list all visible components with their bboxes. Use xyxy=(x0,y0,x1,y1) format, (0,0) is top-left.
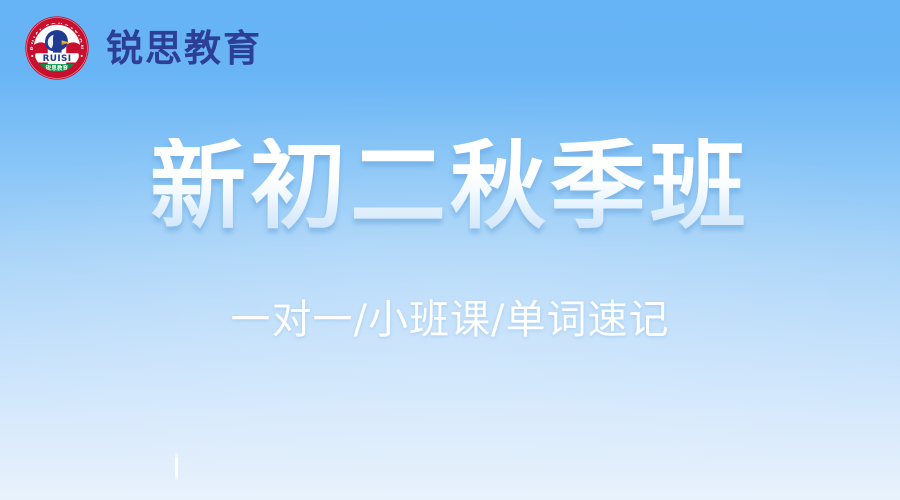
hero-subtitle: 一对一/小班课/单词速记 xyxy=(0,298,900,342)
hero-title-container: 新初二秋季班 新初二秋季班 xyxy=(0,138,900,234)
ruisi-eagle-crest-logo-icon[interactable]: RUISI EDUCATION xyxy=(24,15,90,81)
brand-header: RUISI EDUCATION xyxy=(0,0,900,96)
brand-name: 锐思教育 xyxy=(106,30,262,67)
promo-banner: RUISI EDUCATION xyxy=(0,0,900,500)
text-caret-mark xyxy=(175,452,178,482)
svg-text:RUISI: RUISI xyxy=(43,54,72,64)
hero-title: 新初二秋季班 xyxy=(150,138,750,234)
